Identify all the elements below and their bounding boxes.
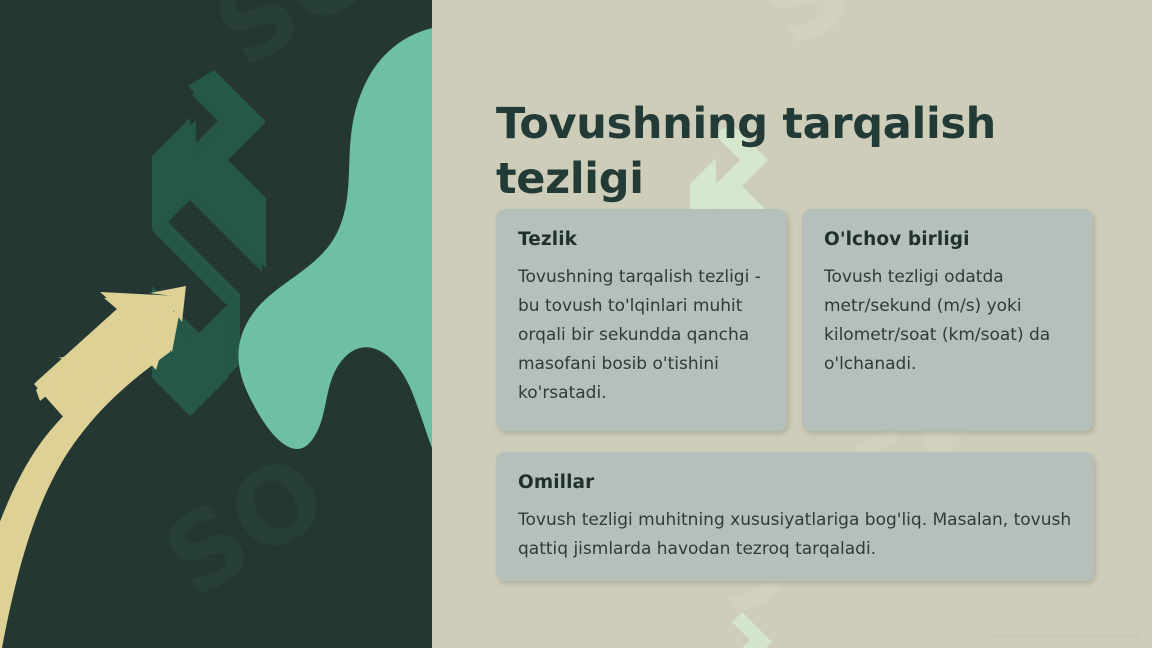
left-decorative-panel: SOF SOFF	[0, 0, 432, 648]
card-body: Tovushning tarqalish tezligi - bu tovush…	[518, 263, 765, 408]
slide-root: SOF SOFF	[0, 0, 1152, 648]
cards-row-top: Tezlik Tovushning tarqalish tezligi - bu…	[496, 209, 1094, 431]
card-tezlik[interactable]: Tezlik Tovushning tarqalish tezligi - bu…	[496, 209, 787, 431]
card-title: O'lchov birligi	[824, 229, 1071, 250]
left-panel-artwork: SOF SOFF	[0, 0, 432, 648]
content-column: Tovushning tarqalish tezligi Tezlik Tovu…	[496, 0, 1096, 648]
page-title: Tovushning tarqalish tezligi	[496, 97, 1096, 207]
cards-container: Tezlik Tovushning tarqalish tezligi - bu…	[496, 209, 1094, 581]
card-omillar[interactable]: Omillar Tovush tezligi muhitning xususiy…	[496, 452, 1094, 581]
card-olchov-birligi[interactable]: O'lchov birligi Tovush tezligi odatda me…	[802, 209, 1093, 431]
card-body: Tovush tezligi muhitning xususiyatlariga…	[518, 506, 1072, 563]
card-title: Omillar	[518, 472, 1072, 493]
card-body: Tovush tezligi odatda metr/sekund (m/s) …	[824, 263, 1071, 379]
card-title: Tezlik	[518, 229, 765, 250]
right-content-panel: SOF SOFF Tovushning tarqalish tezligi	[432, 0, 1152, 648]
